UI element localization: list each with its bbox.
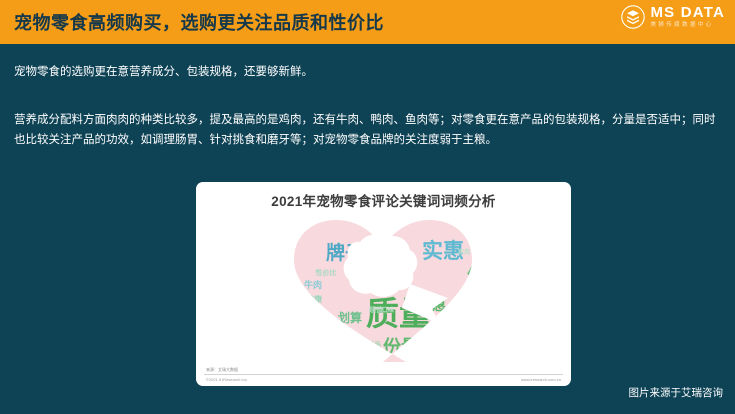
wordcloud-word: 新鲜 bbox=[479, 289, 505, 304]
wordcloud-word: 优惠 bbox=[418, 297, 446, 313]
wordcloud-svg: 质量实惠牌子便宜份量优惠新鲜划算鸡肉牛肉健康性价比正品品质超值营养实用磨牙口味分… bbox=[196, 212, 571, 362]
chart-footer: 来源：艾瑞大数据 ©2021.5 iResearch Inc. www.ires… bbox=[196, 367, 571, 386]
layered-diamond-logo-icon bbox=[621, 5, 645, 29]
logo-main-text: MS DATA bbox=[650, 5, 725, 20]
wordcloud-word: 磨牙 bbox=[335, 331, 348, 339]
wordcloud-figure: 质量实惠牌子便宜份量优惠新鲜划算鸡肉牛肉健康性价比正品品质超值营养实用磨牙口味分… bbox=[196, 212, 571, 362]
page-title: 宠物零食高频购买，选购更关注品质和性价比 bbox=[14, 9, 384, 35]
wordcloud-word: 口味 bbox=[382, 306, 394, 314]
wordcloud-word: 鸡肉 bbox=[386, 251, 407, 264]
logo-sub-text: 美狮传媒数据中心 bbox=[650, 23, 725, 29]
wordcloud-word: 份量 bbox=[383, 336, 419, 357]
wordcloud-word: 正品 bbox=[367, 340, 381, 349]
logo-text-block: MS DATA 美狮传媒数据中心 bbox=[650, 5, 725, 29]
chart-website: www.iresearch.com.cn bbox=[521, 377, 561, 382]
slide-root: 宠物零食高频购买，选购更关注品质和性价比 MS DATA 美狮传媒数据中心 宠物… bbox=[0, 0, 735, 414]
wordcloud-word: 实用 bbox=[458, 248, 470, 256]
body-paragraph-2: 营养成分配料方面肉肉的种类比较多，提及最高的是鸡肉，还有牛肉、鸭肉、鱼肉等；对零… bbox=[14, 110, 720, 150]
wordcloud-word: 健康 bbox=[306, 294, 323, 304]
wordcloud-word: 牌子 bbox=[326, 241, 364, 264]
wordcloud-word: 性价比 bbox=[316, 268, 337, 277]
wordcloud-word: 便宜 bbox=[467, 265, 501, 285]
wordcloud-word: 品质 bbox=[490, 310, 504, 319]
chart-source: 来源：艾瑞大数据 bbox=[206, 367, 571, 373]
chart-title: 2021年宠物零食评论关键词词频分析 bbox=[196, 190, 571, 210]
chart-copyright: ©2021.5 iResearch Inc. bbox=[206, 377, 248, 382]
image-attribution: 图片来源于艾瑞咨询 bbox=[629, 385, 724, 400]
wordcloud-word: 划算 bbox=[338, 310, 362, 325]
slide-header: 宠物零食高频购买，选购更关注品质和性价比 MS DATA 美狮传媒数据中心 bbox=[0, 0, 735, 44]
wordcloud-word: 牛肉 bbox=[304, 279, 322, 290]
brand-logo: MS DATA 美狮传媒数据中心 bbox=[621, 5, 725, 29]
body-paragraph-1: 宠物零食的选购更在意营养成分、包装规格，还要够新鲜。 bbox=[14, 62, 714, 82]
wordcloud-word: 超值 bbox=[369, 305, 383, 314]
chart-card: 2021年宠物零食评论关键词词频分析 bbox=[196, 182, 571, 386]
